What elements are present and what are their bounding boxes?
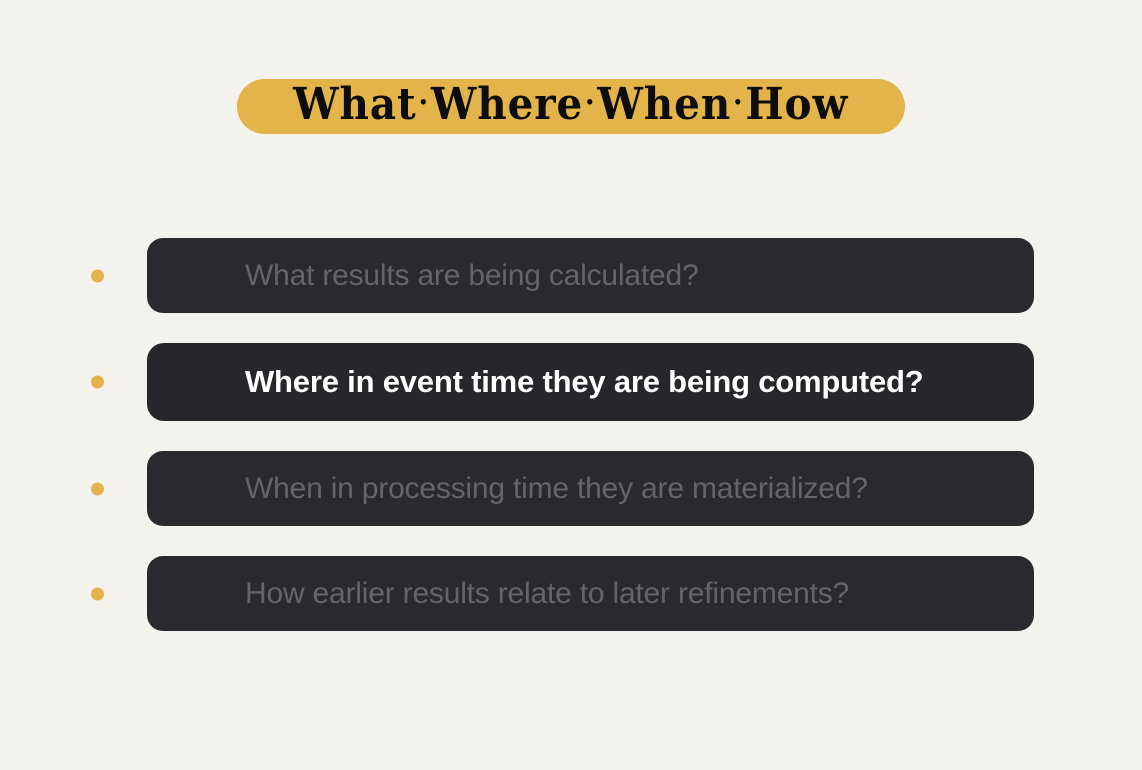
dot-icon [91, 269, 104, 282]
question-list: What results are being calculated? Where… [0, 238, 1142, 631]
question-text: When in processing time they are materia… [245, 472, 868, 505]
list-item[interactable]: When in processing time they are materia… [0, 451, 1142, 526]
dot-icon [91, 376, 104, 389]
dot-icon [91, 482, 104, 495]
question-text: Where in event time they are being compu… [245, 365, 924, 399]
title-container: What·Where·When·How [0, 79, 1142, 134]
list-item[interactable]: Where in event time they are being compu… [0, 343, 1142, 421]
title-part-how: How [746, 79, 849, 130]
title-part-what: What [293, 79, 417, 130]
list-item[interactable]: What results are being calculated? [0, 238, 1142, 313]
page-title: What·Where·When·How [293, 83, 848, 127]
title-separator-3: · [731, 85, 745, 120]
title-part-when: When [598, 79, 732, 130]
question-card-what[interactable]: What results are being calculated? [147, 238, 1034, 313]
question-text: How earlier results relate to later refi… [245, 577, 849, 610]
question-text: What results are being calculated? [245, 259, 698, 292]
question-card-when[interactable]: When in processing time they are materia… [147, 451, 1034, 526]
title-part-where: Where [431, 79, 583, 130]
list-item[interactable]: How earlier results relate to later refi… [0, 556, 1142, 631]
title-separator-2: · [584, 85, 598, 120]
question-card-how[interactable]: How earlier results relate to later refi… [147, 556, 1034, 631]
title-separator-1: · [417, 85, 431, 120]
question-card-where[interactable]: Where in event time they are being compu… [147, 343, 1034, 421]
slide-root: What·Where·When·How What results are bei… [0, 0, 1142, 770]
title-pill-badge: What·Where·When·How [237, 79, 904, 134]
dot-icon [91, 587, 104, 600]
